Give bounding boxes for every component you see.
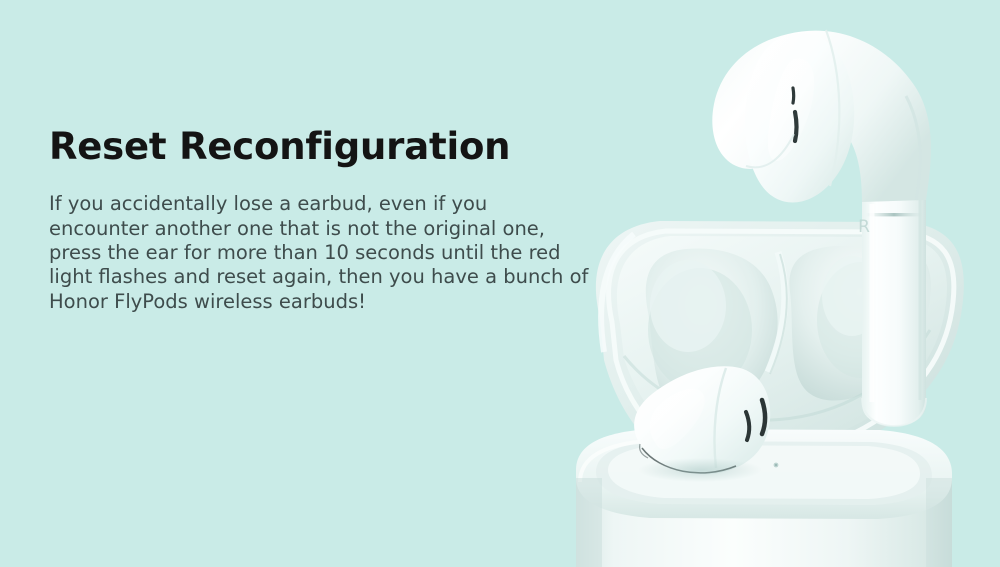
body-description: If you accidentally lose a earbud, even …: [49, 192, 591, 313]
page-title: Reset Reconfiguration: [49, 126, 594, 167]
right-earbud-marking-label: R: [858, 217, 870, 237]
copy-block: Reset Reconfiguration If you accidentall…: [49, 126, 594, 314]
charging-case-body: [576, 429, 952, 567]
promo-banner: R Reset Reconfiguration If you accidenta…: [0, 0, 1000, 567]
